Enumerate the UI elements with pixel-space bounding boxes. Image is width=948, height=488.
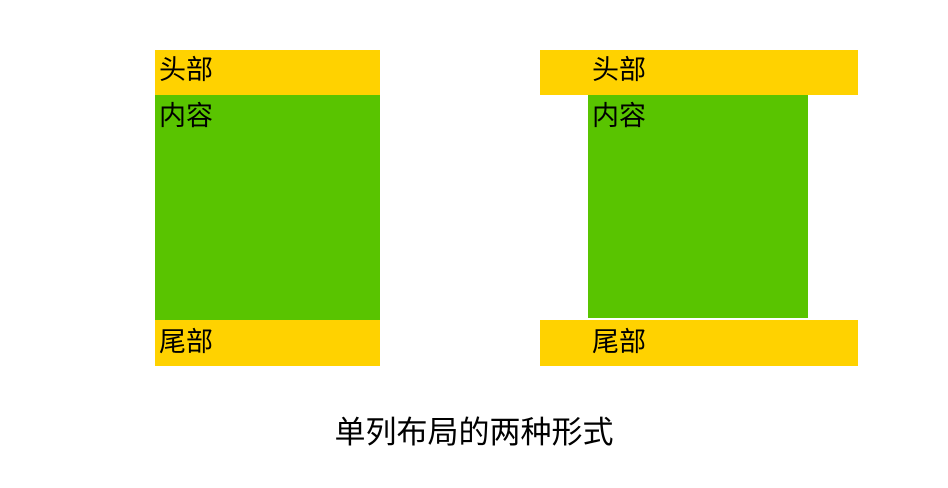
left-content-label: 内容 xyxy=(155,95,380,130)
left-content-band: 内容 xyxy=(155,95,380,320)
right-content-band: 内容 xyxy=(588,95,808,318)
right-footer-band: 尾部 xyxy=(540,320,858,366)
right-header-label: 头部 xyxy=(540,50,858,84)
right-footer-label: 尾部 xyxy=(540,320,858,356)
figure-canvas: 头部 内容 尾部 头部 内容 尾部 单列布局的两种形式 xyxy=(0,0,948,488)
left-header-label: 头部 xyxy=(155,50,380,84)
diagram-single-column-wide-bands: 头部 内容 尾部 xyxy=(540,50,858,366)
diagram-single-column-equal-width: 头部 内容 尾部 xyxy=(155,50,380,366)
right-content-label: 内容 xyxy=(588,95,808,130)
left-header-band: 头部 xyxy=(155,50,380,95)
left-footer-label: 尾部 xyxy=(155,320,380,356)
right-header-band: 头部 xyxy=(540,50,858,95)
left-footer-band: 尾部 xyxy=(155,320,380,366)
figure-caption: 单列布局的两种形式 xyxy=(0,414,948,453)
